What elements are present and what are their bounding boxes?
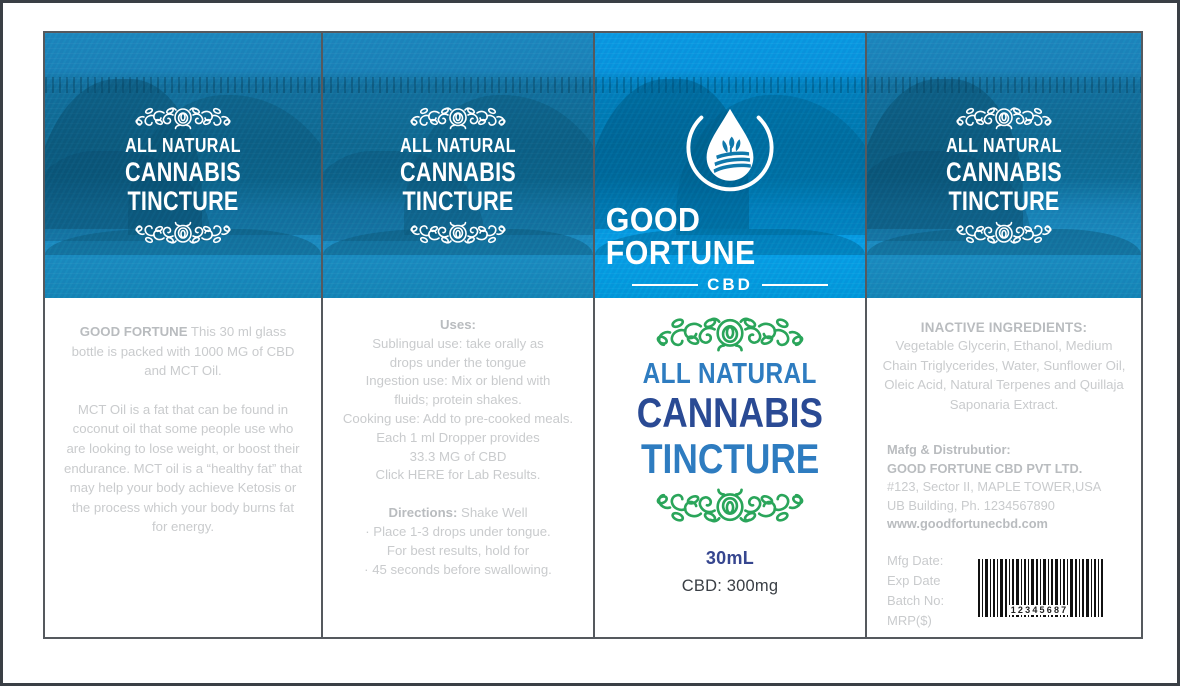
- logo-subtitle-row: CBD: [632, 276, 828, 293]
- uses-line: fluids; protein shakes.: [335, 391, 581, 410]
- floral-flourish-top-icon: [942, 105, 1066, 131]
- floral-flourish-bottom-green-icon: [632, 486, 828, 526]
- panel-1-hero-block: ALL NATURAL CANNABIS TINCTURE: [45, 105, 321, 246]
- hero-line-2: CANNABIS: [73, 158, 294, 186]
- description-paragraph-1: GOOD FORTUNE This 30 ml glass bottle is …: [63, 322, 303, 381]
- floral-flourish-top-green-icon: [632, 314, 828, 354]
- panel-4-photo-band: ALL NATURAL CANNABIS TINCTURE: [867, 33, 1141, 298]
- front-title-line-2: CANNABIS: [637, 391, 823, 435]
- logo-rule-left: [632, 284, 698, 286]
- website-link[interactable]: www.goodfortunecbd.com: [887, 515, 1127, 533]
- barcode-number: 12345687: [1009, 605, 1071, 615]
- address-line-2: UB Building, Ph. 1234567890: [887, 497, 1127, 515]
- meta-label-mfg-date: Mfg Date:: [887, 551, 944, 571]
- uses-heading-text: Uses:: [440, 317, 476, 332]
- logo-rule-right: [762, 284, 828, 286]
- uses-line: Ingestion use: Mix or blend with: [335, 372, 581, 391]
- directions-line: For best results, hold for: [335, 542, 581, 561]
- panel-front: GOOD FORTUNE CBD: [593, 33, 865, 637]
- uses-line: Sublingual use: take orally as: [335, 335, 581, 354]
- meta-and-barcode-row: Mfg Date: Exp Date Batch No: MRP($): [881, 551, 1127, 631]
- panel-uses: ALL NATURAL CANNABIS TINCTURE: [321, 33, 593, 637]
- label-artboard-page: ALL NATURAL CANNABIS TINCTURE: [0, 0, 1180, 686]
- barcode-block: 12345687: [952, 551, 1127, 615]
- directions-heading-text: Directions:: [388, 505, 457, 520]
- hero-line-1: ALL NATURAL: [350, 136, 566, 157]
- mfg-label: Mafg & Distrubutior:: [887, 441, 1127, 459]
- meta-label-batch-no: Batch No:: [887, 591, 944, 611]
- droplet-field-icon: [678, 95, 782, 199]
- panel-ingredients: ALL NATURAL CANNABIS TINCTURE: [865, 33, 1141, 637]
- panel-2-copy: Uses: Sublingual use: take orally as dro…: [323, 298, 593, 637]
- hero-line-1: ALL NATURAL: [894, 136, 1113, 157]
- ingredients-body: Vegetable Glycerin, Ethanol, Medium Chai…: [881, 336, 1127, 414]
- brand-logo-lockup: GOOD FORTUNE CBD: [595, 95, 865, 293]
- floral-flourish-top-icon: [396, 105, 520, 131]
- potency-label: CBD: 300mg: [682, 577, 778, 596]
- front-title-line-3: TINCTURE: [641, 437, 819, 481]
- panel-back-left: ALL NATURAL CANNABIS TINCTURE: [45, 33, 321, 637]
- front-title-line-1: ALL NATURAL: [643, 359, 817, 389]
- directions-line: · Place 1-3 drops under tongue.: [335, 523, 581, 542]
- panel-2-hero-block: ALL NATURAL CANNABIS TINCTURE: [323, 105, 593, 246]
- company-name: GOOD FORTUNE CBD PVT LTD.: [887, 460, 1127, 478]
- panel-4-copy: INACTIVE INGREDIENTS: Vegetable Glycerin…: [867, 298, 1141, 639]
- meta-label-list: Mfg Date: Exp Date Batch No: MRP($): [887, 551, 944, 631]
- floral-flourish-top-icon: [121, 105, 245, 131]
- address-line-1: #123, Sector II, MAPLE TOWER,USA: [887, 478, 1127, 496]
- panel-3-photo-band: GOOD FORTUNE CBD: [595, 33, 865, 298]
- lab-results-link[interactable]: Click HERE for Lab Results.: [335, 466, 581, 485]
- panel-2-photo-band: ALL NATURAL CANNABIS TINCTURE: [323, 33, 593, 298]
- floral-flourish-bottom-icon: [396, 220, 520, 246]
- volume-label: 30mL: [706, 548, 754, 569]
- uses-heading: Uses:: [335, 316, 581, 335]
- description-paragraph-2: MCT Oil is a fat that can be found in co…: [63, 400, 303, 537]
- ingredients-heading: INACTIVE INGREDIENTS:: [881, 320, 1127, 335]
- uses-line: drops under the tongue: [335, 354, 581, 373]
- hero-line-3: TINCTURE: [350, 187, 566, 215]
- brand-lead: GOOD FORTUNE: [80, 324, 188, 339]
- product-label-dieline: ALL NATURAL CANNABIS TINCTURE: [43, 31, 1143, 639]
- directions-heading: Directions: Shake Well: [335, 504, 581, 523]
- directions-line: · 45 seconds before swallowing.: [335, 561, 581, 580]
- hero-line-2: CANNABIS: [894, 158, 1113, 186]
- floral-flourish-bottom-icon: [942, 220, 1066, 246]
- panel-1-copy: GOOD FORTUNE This 30 ml glass bottle is …: [45, 298, 321, 637]
- manufacturer-block: Mafg & Distrubutior: GOOD FORTUNE CBD PV…: [881, 441, 1127, 533]
- floral-flourish-bottom-icon: [121, 220, 245, 246]
- uses-line: Each 1 ml Dropper provides: [335, 429, 581, 448]
- hero-line-1: ALL NATURAL: [73, 136, 294, 157]
- directions-lead: Shake Well: [457, 505, 527, 520]
- logo-wordmark: GOOD FORTUNE: [606, 203, 854, 269]
- hero-line-2: CANNABIS: [350, 158, 566, 186]
- uses-line: Cooking use: Add to pre-cooked meals.: [335, 410, 581, 429]
- uses-line: 33.3 MG of CBD: [335, 448, 581, 467]
- meta-label-mrp: MRP($): [887, 611, 944, 631]
- hero-line-3: TINCTURE: [73, 187, 294, 215]
- panel-1-photo-band: ALL NATURAL CANNABIS TINCTURE: [45, 33, 321, 298]
- logo-subtitle: CBD: [707, 276, 753, 293]
- panel-4-hero-block: ALL NATURAL CANNABIS TINCTURE: [867, 105, 1141, 246]
- hero-line-3: TINCTURE: [894, 187, 1113, 215]
- panel-3-front-face: ALL NATURAL CANNABIS TINCTURE: [595, 298, 865, 637]
- meta-label-exp-date: Exp Date: [887, 571, 944, 591]
